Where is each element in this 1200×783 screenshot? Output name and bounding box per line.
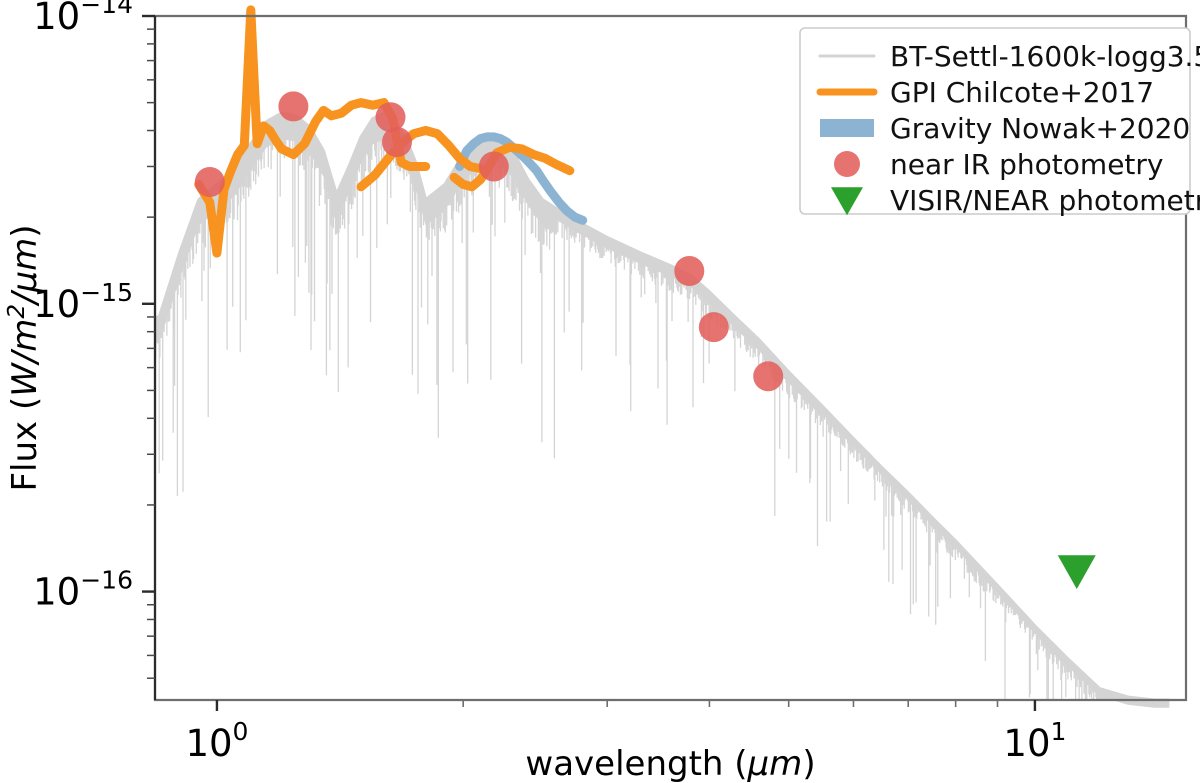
sed-plot: 10010110−1410−1510−16wavelength (μm)Flux… [0,0,1200,783]
legend-swatch-circle-3 [834,151,860,177]
y-axis-label: Flux (W/m2/μm) [4,224,45,491]
nir-photometry-point-6[interactable] [699,312,729,342]
y-major-tick-label-2: 10−16 [33,566,133,614]
nir-photometry-point-5[interactable] [674,256,704,286]
x-major-tick-label-1: 101 [1003,717,1066,765]
legend-label-1[interactable]: GPI Chilcote+2017 [890,76,1154,109]
nir-photometry-point-7[interactable] [753,361,783,391]
sed-figure-container: 10010110−1410−1510−16wavelength (μm)Flux… [0,0,1200,783]
x-major-tick-label-0: 100 [185,717,248,765]
visir-photometry-point-0[interactable] [1058,555,1096,589]
nir-photometry-point-3[interactable] [382,127,412,157]
y-major-tick-label-0: 10−14 [33,0,133,38]
legend-label-2[interactable]: Gravity Nowak+2020 [890,112,1190,145]
y-major-tick-label-1: 10−15 [33,278,133,326]
legend-label-0[interactable]: BT-Settl-1600k-logg3.5 [890,40,1200,73]
nir-photometry-point-0[interactable] [195,167,225,197]
x-axis-label: wavelength (μm) [525,744,815,783]
nir-photometry-point-4[interactable] [479,152,509,182]
nir-photometry-point-1[interactable] [278,91,308,121]
legend-label-3[interactable]: near IR photometry [890,148,1163,181]
legend-label-4[interactable]: VISIR/NEAR photometry [890,184,1200,217]
legend-swatch-band-2 [820,119,874,137]
